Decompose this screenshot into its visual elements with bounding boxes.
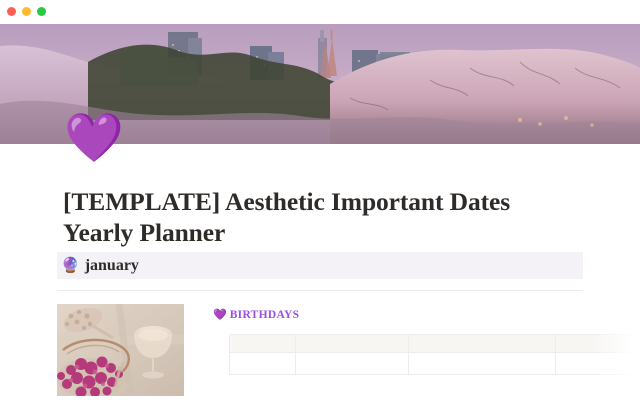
page-content: [TEMPLATE] Aesthetic Important Dates Yea…: [0, 144, 640, 400]
purple-heart-icon: 💜: [213, 309, 227, 320]
january-photo[interactable]: [57, 304, 184, 396]
crystal-ball-icon: 🔮: [61, 258, 80, 273]
month-section-january: 🔮 january: [57, 252, 583, 291]
traffic-light-group: [7, 7, 46, 16]
birthdays-table[interactable]: [229, 334, 640, 375]
table-header-row: [230, 335, 640, 353]
birthdays-table-wrapper: [229, 334, 640, 375]
page-title[interactable]: [TEMPLATE] Aesthetic Important Dates Yea…: [63, 186, 563, 248]
minimize-window-button[interactable]: [22, 7, 31, 16]
table-header-cell[interactable]: [296, 335, 409, 353]
table-header-cell[interactable]: [556, 335, 640, 353]
table-cell[interactable]: [296, 353, 409, 375]
birthdays-table-body: [230, 353, 640, 375]
table-cell[interactable]: [409, 353, 556, 375]
table-cell[interactable]: [230, 353, 296, 375]
section-divider: [57, 290, 583, 291]
table-row[interactable]: [230, 353, 640, 375]
window-title-bar: [0, 0, 640, 24]
birthdays-table-header: [230, 335, 640, 353]
birthdays-heading[interactable]: 💜 BIRTHDAYS: [213, 307, 640, 322]
table-header-cell[interactable]: [230, 335, 296, 353]
birthdays-heading-label: BIRTHDAYS: [230, 309, 300, 321]
january-photo-artwork: [57, 304, 184, 396]
month-heading-band[interactable]: 🔮 january: [57, 252, 583, 279]
birthdays-section: 💜 BIRTHDAYS: [213, 304, 640, 375]
purple-heart-icon[interactable]: 💜: [64, 110, 120, 166]
maximize-window-button[interactable]: [37, 7, 46, 16]
table-cell[interactable]: [556, 353, 640, 375]
table-header-cell[interactable]: [409, 335, 556, 353]
close-window-button[interactable]: [7, 7, 16, 16]
month-heading-label: january: [85, 257, 139, 275]
